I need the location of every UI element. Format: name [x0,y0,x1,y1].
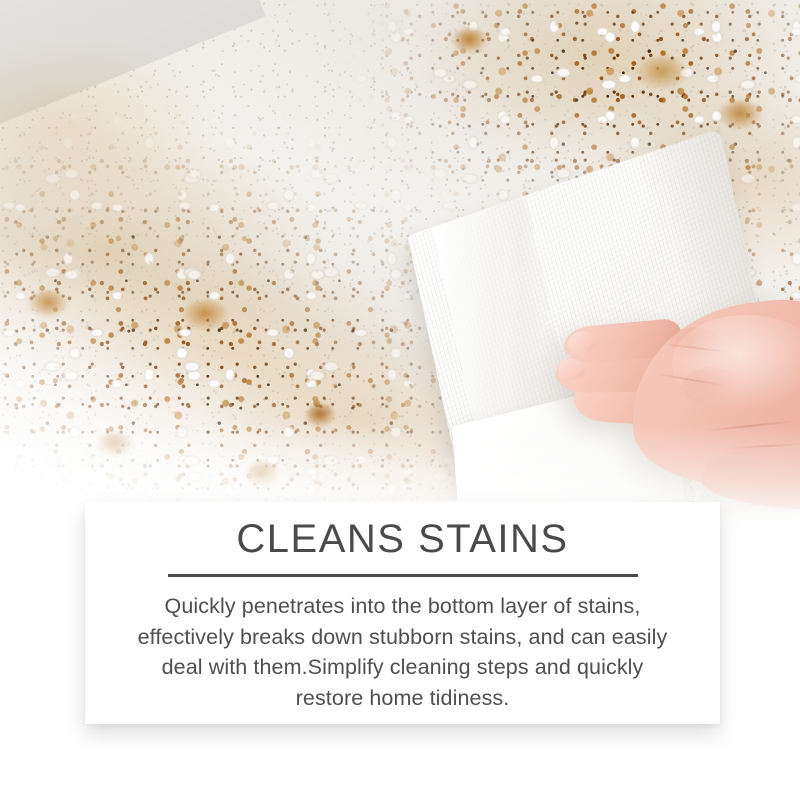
text-card: CLEANS STAINS Quickly penetrates into th… [85,502,720,724]
photo-bottom-left-fade [0,470,90,570]
stain-blob [306,404,336,428]
description-line: effectively breaks down stubborn stains,… [115,622,690,653]
hand-wiping [552,275,800,505]
title-divider [168,574,638,577]
stain-blob [96,432,134,458]
description-text: Quickly penetrates into the bottom layer… [115,591,690,713]
stain-blob [636,56,688,90]
stain-blob [182,300,228,330]
stain-blob [718,100,762,130]
banner-stage: CLEANS STAINS Quickly penetrates into th… [0,0,800,800]
page-title: CLEANS STAINS [236,516,568,562]
stain-blob [28,290,68,318]
stain-blob [246,462,280,488]
stain-blob [452,28,488,54]
text-card-content: CLEANS STAINS Quickly penetrates into th… [85,502,720,724]
fingernail [565,328,598,358]
description-line: restore home tidiness. [115,683,690,714]
description-line: deal with them.Simplify cleaning steps a… [115,652,690,683]
product-photo [0,0,800,570]
description-line: Quickly penetrates into the bottom layer… [115,591,690,622]
